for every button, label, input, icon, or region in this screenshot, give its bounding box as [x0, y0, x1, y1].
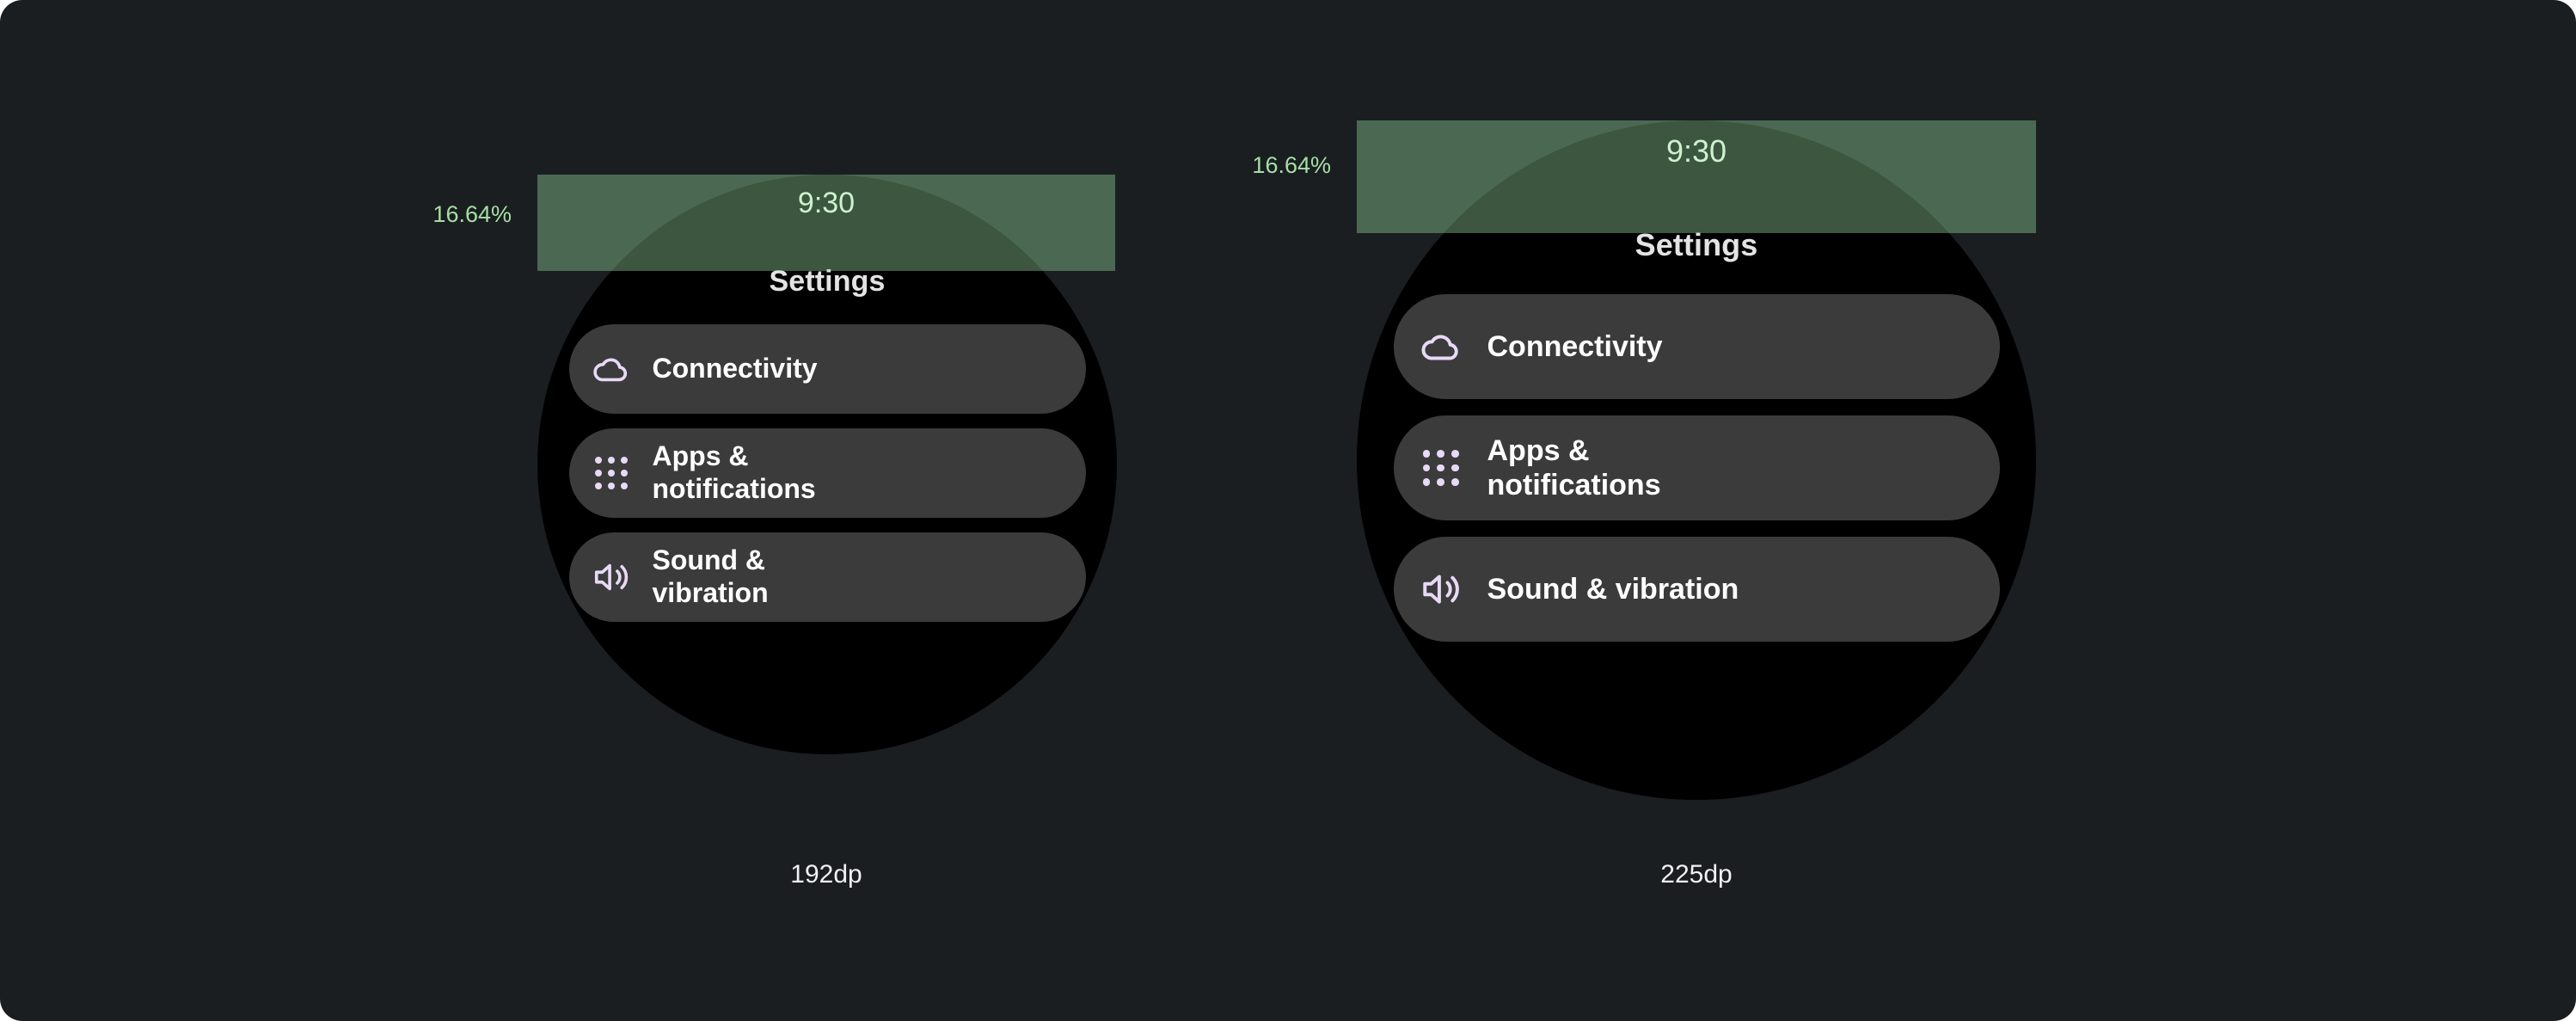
status-bar-time: 9:30 — [537, 187, 1115, 220]
settings-chip-apps-notifications[interactable]: Apps & notifications — [569, 428, 1086, 518]
device-spec-225dp: Settings Connectivity — [1288, 0, 2576, 1021]
settings-chip-label: Sound & vibration — [653, 544, 769, 610]
measurement-percent-label: 16.64% — [340, 201, 512, 228]
apps-grid-icon — [592, 453, 631, 493]
settings-chip-sound-vibration[interactable]: Sound & vibration — [569, 532, 1086, 622]
measurement-percent-label: 16.64% — [1159, 152, 1331, 179]
settings-chip-apps-notifications[interactable]: Apps & notifications — [1394, 415, 2000, 520]
apps-grid-icon — [1420, 446, 1463, 489]
settings-chip-connectivity[interactable]: Connectivity — [569, 324, 1086, 414]
device-size-caption: 225dp — [1357, 860, 2036, 889]
cloud-icon — [592, 349, 631, 389]
settings-chip-label: Connectivity — [1487, 329, 1663, 364]
settings-chip-label: Connectivity — [653, 353, 818, 385]
settings-chip-connectivity[interactable]: Connectivity — [1394, 294, 2000, 399]
device-size-caption: 192dp — [537, 860, 1115, 889]
settings-chip-sound-vibration[interactable]: Sound & vibration — [1394, 537, 2000, 642]
sound-icon — [592, 557, 631, 597]
spec-canvas: Settings Connectivity — [0, 0, 2576, 1021]
settings-chip-list: Connectivity Apps & notifications — [537, 324, 1117, 622]
sound-icon — [1420, 568, 1463, 611]
settings-chip-list: Connectivity Apps & notifications — [1357, 294, 2036, 642]
cloud-icon — [1420, 325, 1463, 368]
settings-chip-label: Apps & notifications — [1487, 434, 1661, 502]
settings-chip-label: Sound & vibration — [1487, 572, 1739, 606]
settings-chip-label: Apps & notifications — [653, 440, 816, 506]
device-spec-192dp: Settings Connectivity — [0, 0, 1288, 1021]
status-bar-time: 9:30 — [1357, 133, 2036, 169]
